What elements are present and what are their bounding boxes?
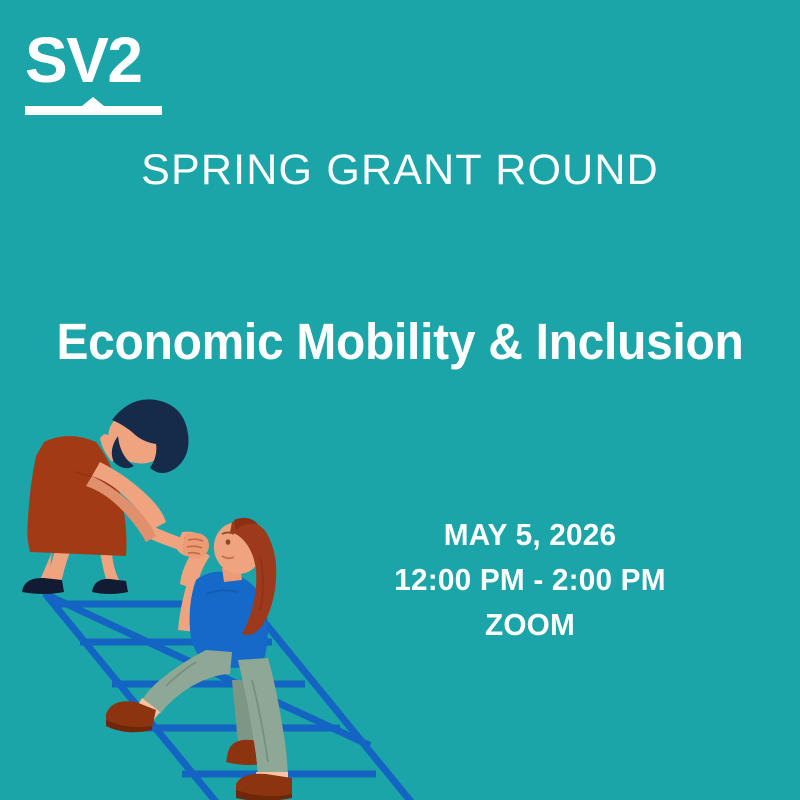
climber-figure: [106, 518, 292, 800]
sv2-logo[interactable]: SV2: [25, 28, 225, 118]
underline-chevron-rule-icon: [25, 96, 162, 116]
kicker-title: SPRING GRANT ROUND: [0, 145, 800, 195]
helper-figure: [22, 399, 204, 594]
illustration-two-women-ladder: [0, 380, 420, 800]
page-title: Economic Mobility & Inclusion: [24, 312, 776, 372]
poster-canvas: SV2 SPRING GRANT ROUND Economic Mobility…: [0, 0, 800, 800]
sv2-logo-wordmark: SV2: [25, 28, 225, 92]
